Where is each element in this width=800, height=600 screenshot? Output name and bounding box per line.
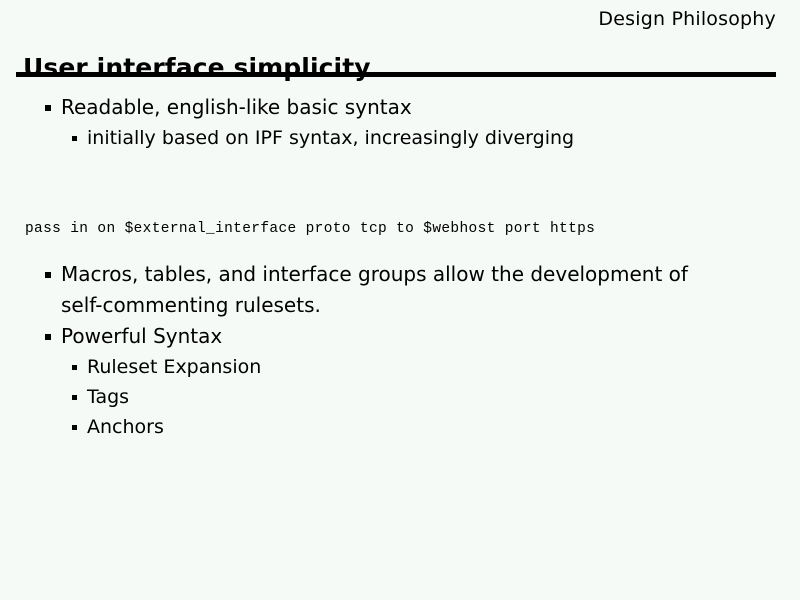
bullet-group-features: Macros, tables, and interface groups all… (0, 259, 800, 442)
slide-title: User interface simplicity (23, 53, 371, 83)
code-example: pass in on $external_interface proto tcp… (25, 219, 595, 239)
bullet-text: Powerful Syntax (61, 324, 222, 348)
bullet-item: Tags (72, 382, 707, 412)
square-bullet-icon (45, 272, 51, 278)
slide-category-label: Design Philosophy (598, 8, 776, 30)
bullet-item: Anchors (72, 412, 707, 442)
presentation-slide: Design Philosophy User interface simplic… (0, 0, 800, 600)
square-bullet-icon (72, 425, 77, 430)
bullet-text: initially based on IPF syntax, increasin… (87, 127, 574, 149)
square-bullet-icon (72, 395, 77, 400)
slide-header: Design Philosophy User interface simplic… (0, 0, 800, 80)
square-bullet-icon (45, 105, 51, 111)
bullet-item: Ruleset Expansion (72, 352, 707, 382)
bullet-group-syntax: Readable, english-like basic syntax init… (0, 92, 800, 153)
bullet-text: Anchors (87, 416, 164, 438)
square-bullet-icon (45, 334, 51, 340)
bullet-item: Macros, tables, and interface groups all… (45, 259, 701, 321)
bullet-text: Ruleset Expansion (87, 356, 261, 378)
bullet-item: Readable, english-like basic syntax (45, 92, 701, 123)
square-bullet-icon (72, 365, 77, 370)
bullet-item: Powerful Syntax (45, 321, 701, 352)
bullet-item: initially based on IPF syntax, increasin… (72, 123, 707, 153)
bullet-text: Tags (87, 386, 129, 408)
square-bullet-icon (72, 136, 77, 141)
title-divider-rule (16, 72, 776, 77)
bullet-text: Macros, tables, and interface groups all… (61, 262, 688, 317)
bullet-text: Readable, english-like basic syntax (61, 95, 412, 119)
